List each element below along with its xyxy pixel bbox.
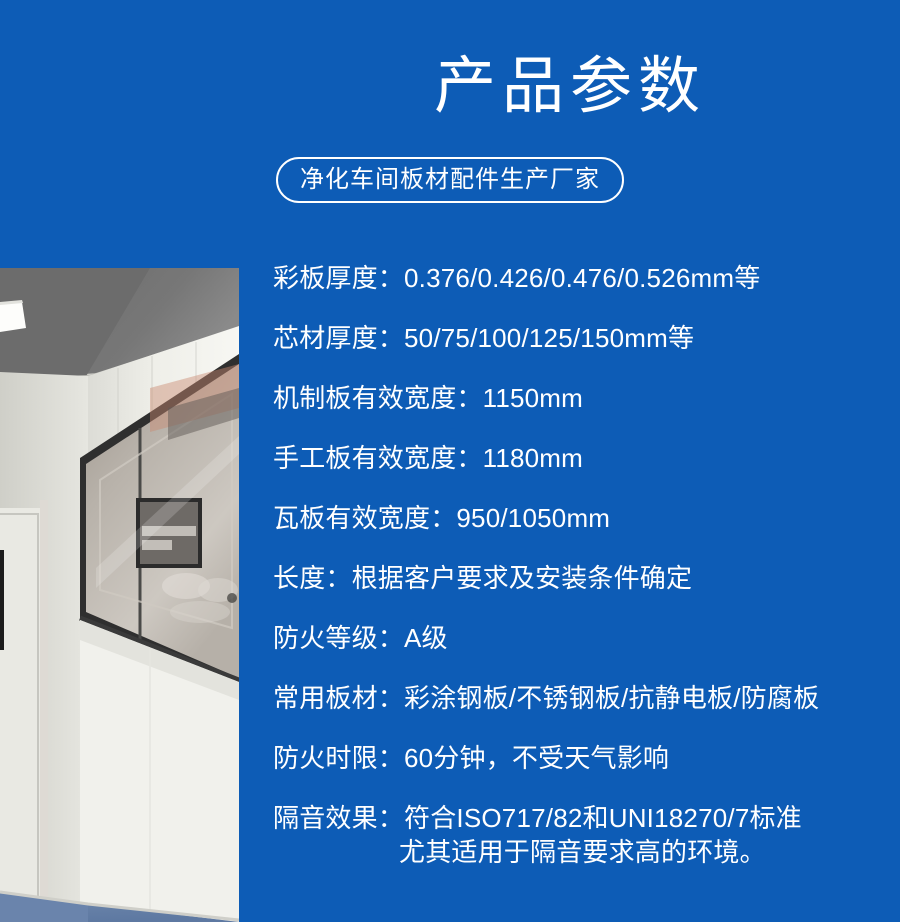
spec-text: 防火时限：60分钟，不受天气影响 <box>273 742 669 774</box>
spec-row: 隔音效果：符合ISO717/82和UNI18270/7标准 尤其适用于隔音要求高… <box>273 802 893 882</box>
spec-row: 芯材厚度：50/75/100/125/150mm等 <box>273 322 893 382</box>
spec-text: 常用板材：彩涂钢板/不锈钢板/抗静电板/防腐板 <box>273 682 819 714</box>
cleanroom-corridor-photo <box>0 268 239 922</box>
spec-text-continuation: 尤其适用于隔音要求高的环境。 <box>273 834 802 870</box>
spec-row: 防火等级：A级 <box>273 622 893 682</box>
spec-text: 彩板厚度：0.376/0.426/0.476/0.526mm等 <box>273 262 760 294</box>
page-title: 产品参数 <box>240 52 900 122</box>
subtitle-badge: 净化车间板材配件生产厂家 <box>276 157 624 203</box>
subtitle-badge-label: 净化车间板材配件生产厂家 <box>300 168 600 192</box>
spec-list: 彩板厚度：0.376/0.426/0.476/0.526mm等 芯材厚度：50/… <box>273 262 893 882</box>
spec-row: 常用板材：彩涂钢板/不锈钢板/抗静电板/防腐板 <box>273 682 893 742</box>
spec-row: 手工板有效宽度：1180mm <box>273 442 893 502</box>
spec-text: 隔音效果：符合ISO717/82和UNI18270/7标准 <box>273 803 802 833</box>
spec-text: 长度：根据客户要求及安装条件确定 <box>273 562 692 594</box>
spec-text: 防火等级：A级 <box>273 622 448 654</box>
spec-text: 手工板有效宽度：1180mm <box>273 442 583 474</box>
header: 产品参数 净化车间板材配件生产厂家 <box>0 0 900 240</box>
product-parameters-page: 产品参数 净化车间板材配件生产厂家 <box>0 0 900 922</box>
spec-row: 瓦板有效宽度：950/1050mm <box>273 502 893 562</box>
spec-text: 瓦板有效宽度：950/1050mm <box>273 502 610 534</box>
spec-row: 彩板厚度：0.376/0.426/0.476/0.526mm等 <box>273 262 893 322</box>
spec-row: 机制板有效宽度：1150mm <box>273 382 893 442</box>
spec-row: 防火时限：60分钟，不受天气影响 <box>273 742 893 802</box>
cleanroom-corridor-illustration <box>0 268 239 922</box>
spec-row: 长度：根据客户要求及安装条件确定 <box>273 562 893 622</box>
spec-text: 机制板有效宽度：1150mm <box>273 382 583 414</box>
spec-text: 芯材厚度：50/75/100/125/150mm等 <box>273 322 694 354</box>
